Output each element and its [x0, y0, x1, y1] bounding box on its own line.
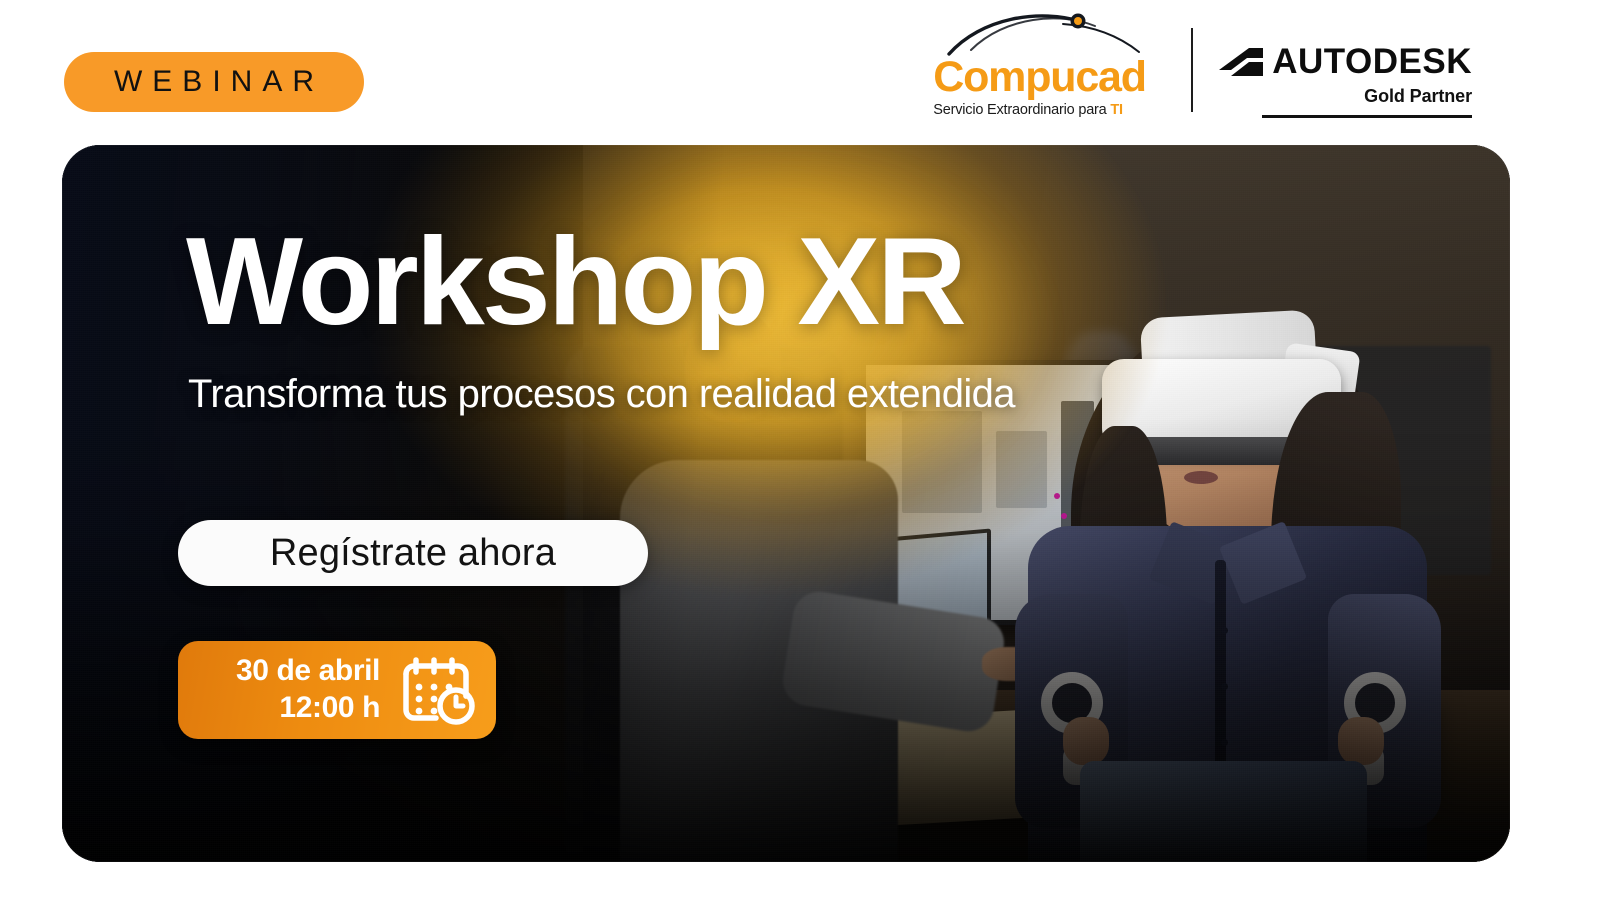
compucad-wordmark: Compucad: [933, 56, 1165, 99]
logo-divider: [1191, 28, 1193, 112]
hero-subtitle: Transforma tus procesos con realidad ext…: [188, 372, 1015, 417]
autodesk-wordmark: AUTODESK: [1272, 44, 1472, 79]
autodesk-a-mark-icon: [1219, 48, 1263, 76]
autodesk-top-row: AUTODESK: [1219, 44, 1472, 79]
compucad-tagline: Servicio Extraordinario para TI: [933, 102, 1165, 118]
calendar-clock-icon: [398, 654, 476, 726]
register-button[interactable]: Regístrate ahora: [178, 520, 648, 586]
date-line: 30 de abril: [178, 653, 380, 690]
autodesk-logo: AUTODESK Gold Partner: [1219, 44, 1472, 118]
hero-card: Workshop XR Transforma tus procesos con …: [62, 145, 1510, 862]
hero-copy: Workshop XR Transforma tus procesos con …: [120, 145, 960, 862]
webinar-badge: WEBINAR: [64, 52, 364, 112]
hero-title: Workshop XR: [186, 220, 964, 344]
register-button-label: Regístrate ahora: [270, 532, 556, 575]
autodesk-rule: [1262, 115, 1472, 118]
time-line: 12:00 h: [178, 690, 380, 727]
date-time-badge: 30 de abril 12:00 h: [178, 641, 496, 739]
date-time-text: 30 de abril 12:00 h: [178, 653, 398, 726]
compucad-tagline-main: Servicio Extraordinario para: [933, 102, 1110, 118]
autodesk-partner-level: Gold Partner: [1364, 86, 1472, 107]
compucad-logo: Compucad Servicio Extraordinario para TI: [933, 34, 1165, 118]
logo-row: Compucad Servicio Extraordinario para TI…: [933, 28, 1472, 118]
swoosh-arc-icon: [943, 10, 1161, 56]
webinar-banner: WEBINAR Compucad Servicio Extraordinario…: [0, 0, 1600, 900]
webinar-badge-label: WEBINAR: [104, 65, 324, 99]
compucad-tagline-accent: TI: [1110, 102, 1123, 118]
